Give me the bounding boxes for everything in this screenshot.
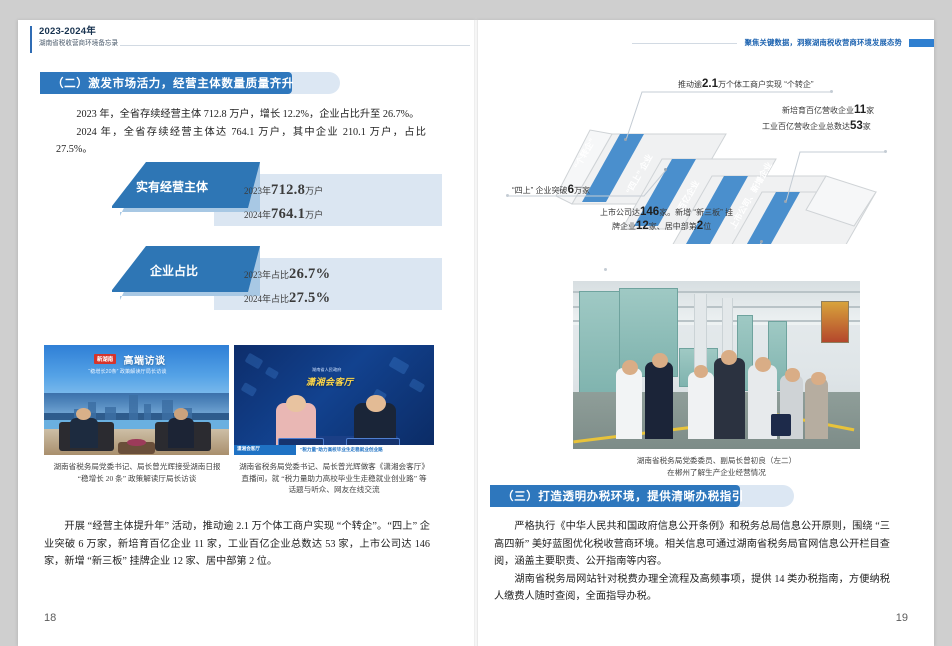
intro-line-2: 2024 年，全省存续经营主体达 764.1 万户，其中企业 210.1 万户，… xyxy=(56,124,426,159)
infographic-label-2: 企业占比 xyxy=(150,262,198,279)
document-spread: 2023-2024年 湖南省税收营商环境备忘录 聚焦关键数据，洞察湖南税收营商环… xyxy=(0,0,952,646)
left-body-paragraph: 开展 “经营主体提升年” 活动，推动逾 2.1 万个体工商户实现 “个转企”。“… xyxy=(44,518,430,571)
value-prefix: 2023年占比 xyxy=(244,270,289,280)
value-number: 764.1 xyxy=(271,206,305,222)
photo3-head xyxy=(721,350,737,365)
running-head-right: 聚焦关键数据，洞察湖南税收营商环境发展态势 xyxy=(632,38,934,48)
callout-value: 2.1 xyxy=(702,78,718,90)
photo3-briefcase xyxy=(771,414,791,436)
photo1-person-right xyxy=(168,418,194,449)
photo1-head-right xyxy=(174,408,189,420)
left-intro: 2023 年，全省存续经营主体 712.8 万户，增长 12.2%，企业占比升至… xyxy=(56,106,426,159)
photo-caption-3: 湖南省税务局党委委员、副局长曾初良（左二） 在郴州了解生产企业经营情况 xyxy=(573,455,860,478)
photo3-person xyxy=(714,358,746,439)
photo3-head xyxy=(785,368,799,381)
callout-text-after: 家 xyxy=(863,122,871,131)
infographic-value-1b: 2024年764.1万户 xyxy=(244,205,323,223)
running-head-divider xyxy=(120,45,470,46)
running-head-left: 2023-2024年 湖南省税收营商环境备忘录 xyxy=(30,26,118,53)
infographic-value-1a: 2023年712.8万户 xyxy=(244,181,323,199)
callout-text-after: 万个体工商户实现 “个转企” xyxy=(718,80,814,89)
running-head-divider-right xyxy=(632,43,737,44)
running-head-years: 2023-2024年 xyxy=(39,26,118,38)
photo3-head xyxy=(622,360,638,375)
callout-text-after-2: 位 xyxy=(703,222,711,231)
photo3-head xyxy=(652,353,668,368)
infographic-label-1: 实有经营主体 xyxy=(136,178,208,195)
heading-solid: （三）打造透明办税环境，提供清晰办税指引 xyxy=(490,485,740,507)
photo-caption-2: 湖南省税务局党委书记、局长曾光辉做客《潇湘会客厅》 直播间，就 “税力量助力高校… xyxy=(230,461,438,496)
callout-value: 12 xyxy=(636,220,649,232)
photo2-band-left: 潇湘会客厅 xyxy=(237,446,260,452)
infographic-block-2: 企业占比 2023年占比26.7% 2024年占比27.5% xyxy=(112,246,442,322)
heading-text: （三）打造透明办税环境，提供清晰办税指引 xyxy=(502,488,744,504)
callout-text-after: 家。新增 “新三板” 挂 xyxy=(659,208,733,217)
callout-text-after: 家、居中部第 xyxy=(649,222,697,231)
photo3-head xyxy=(811,372,825,385)
photo3-head xyxy=(755,357,771,372)
callout-text-before: 推动逾 xyxy=(678,80,702,89)
callout-listed-1: 上市公司达146家。新增 “新三板” 挂 xyxy=(600,206,733,219)
photo1-person-left xyxy=(70,418,98,449)
callout-text-before: 工业百亿营收企业总数达 xyxy=(762,122,850,131)
running-head-rule xyxy=(30,26,32,53)
photo2-overlay-title: 潇湘会客厅 xyxy=(306,375,354,388)
running-head-tagline: 聚焦关键数据，洞察湖南税收营商环境发展态势 xyxy=(745,38,902,48)
callout-text-before: 新培育百亿营收企业 xyxy=(782,106,854,115)
infographic-value-2a: 2023年占比26.7% xyxy=(244,265,330,283)
value-suffix: 万户 xyxy=(305,210,323,220)
value-prefix: 2024年 xyxy=(244,210,271,220)
callout-text-after: 万家 xyxy=(574,186,590,195)
running-head-subtitle: 湖南省税收营商环境备忘录 xyxy=(39,38,118,49)
callout-baiyi-new: 新培育百亿营收企业11家 xyxy=(782,104,874,117)
ribbon-shape-2 xyxy=(112,246,442,322)
value-number: 26.7% xyxy=(289,266,330,282)
photo3-person xyxy=(645,362,674,439)
photo1-overlay-title: 高端访谈 xyxy=(124,352,166,367)
photo2-head-right xyxy=(366,395,386,413)
photo-caption-1: 湖南省税务局党委书记、局长曾光辉接受湖南日报 “稳增长 20 条” 政策解读厅局… xyxy=(40,461,234,484)
photo-tv-interview: 新湖南 高端访谈 “稳增长20条” 政策解读厅局长访谈 xyxy=(44,345,229,455)
photo1-flowers xyxy=(127,439,146,447)
callout-value: 146 xyxy=(640,206,659,218)
photo-factory-visit xyxy=(573,281,860,449)
folio-left: 18 xyxy=(44,612,56,624)
photo-studio-broadcast: 湖南省人民政府 潇湘会客厅 潇湘会客厅 “税力量”助力高校毕业生走稳就业创业路 xyxy=(234,345,434,455)
infographic-value-2b: 2024年占比27.5% xyxy=(244,289,330,307)
intro-line-1: 2023 年，全省存续经营主体 712.8 万户，增长 12.2%，企业占比升至… xyxy=(56,106,426,124)
photo2-overlay-sub: 湖南省人民政府 xyxy=(312,367,341,373)
right-body: 严格执行《中华人民共和国政府信息公开条例》和税务总局信息公开原则，围绕 “三高四… xyxy=(494,518,890,606)
heading-text: （二）激发市场活力，经营主体数量质量齐升 xyxy=(52,75,294,91)
photo3-person xyxy=(616,368,642,439)
photo1-logo-tag: 新湖南 xyxy=(94,354,116,364)
value-number: 712.8 xyxy=(271,182,305,198)
photo1-head-left xyxy=(76,408,91,420)
value-number: 27.5% xyxy=(289,290,330,306)
callout-text-before: 上市公司达 xyxy=(600,208,640,217)
callout-sishang: “四上” 企业突破6万家 xyxy=(512,184,590,197)
running-head-chip xyxy=(909,39,934,47)
callout-baiyi-total: 工业百亿营收企业总数达53家 xyxy=(762,120,871,133)
value-prefix: 2023年 xyxy=(244,186,271,196)
spread-gutter xyxy=(474,20,478,646)
value-prefix: 2024年占比 xyxy=(244,294,289,304)
ribbon-shape-1 xyxy=(112,162,442,238)
photo2-lower-third: 潇湘会客厅 “税力量”助力高校毕业生走稳就业创业路 xyxy=(234,445,434,455)
left-body-text: 开展 “经营主体提升年” 活动，推动逾 2.1 万个体工商户实现 “个转企”。“… xyxy=(44,518,430,571)
callout-text-before: 牌企业 xyxy=(612,222,636,231)
photo3-person xyxy=(688,372,714,439)
photo1-overlay-sub: “稳增长20条” 政策解读厅局长访谈 xyxy=(88,368,166,375)
photo3-poster xyxy=(821,301,849,343)
section-heading-two: （二）激发市场活力，经营主体数量质量齐升 xyxy=(40,72,340,94)
callout-listed-2: 牌企业12家、居中部第2位 xyxy=(612,220,711,233)
callout-value: 11 xyxy=(854,104,866,116)
folio-right: 19 xyxy=(896,612,908,624)
callout-text-before: “四上” 企业突破 xyxy=(512,186,568,195)
heading-solid: （二）激发市场活力，经营主体数量质量齐升 xyxy=(40,72,292,94)
value-suffix: 万户 xyxy=(305,186,323,196)
callout-text-after: 家 xyxy=(866,106,874,115)
right-paragraph-1: 严格执行《中华人民共和国政府信息公开条例》和税务总局信息公开原则，围绕 “三高四… xyxy=(494,518,890,571)
section-heading-three: （三）打造透明办税环境，提供清晰办税指引 xyxy=(490,485,794,507)
callout-value: 53 xyxy=(850,120,863,132)
photo1-building xyxy=(129,395,138,423)
callout-getterqi: 推动逾2.1万个体工商户实现 “个转企” xyxy=(678,78,814,91)
photo3-person xyxy=(805,378,828,438)
photo2-band-right: “税力量”助力高校毕业生走稳就业创业路 xyxy=(300,447,383,453)
photo3-machine xyxy=(579,291,621,397)
right-paragraph-2: 湖南省税务局网站针对税费办理全流程及高频事项，提供 14 类办税指南，方便纳税人… xyxy=(494,571,890,606)
photo2-band-right-bg: “税力量”助力高校毕业生走稳就业创业路 xyxy=(296,445,434,455)
infographic-block-1: 实有经营主体 2023年712.8万户 2024年764.1万户 xyxy=(112,162,442,238)
photo2-head-left xyxy=(286,395,306,413)
